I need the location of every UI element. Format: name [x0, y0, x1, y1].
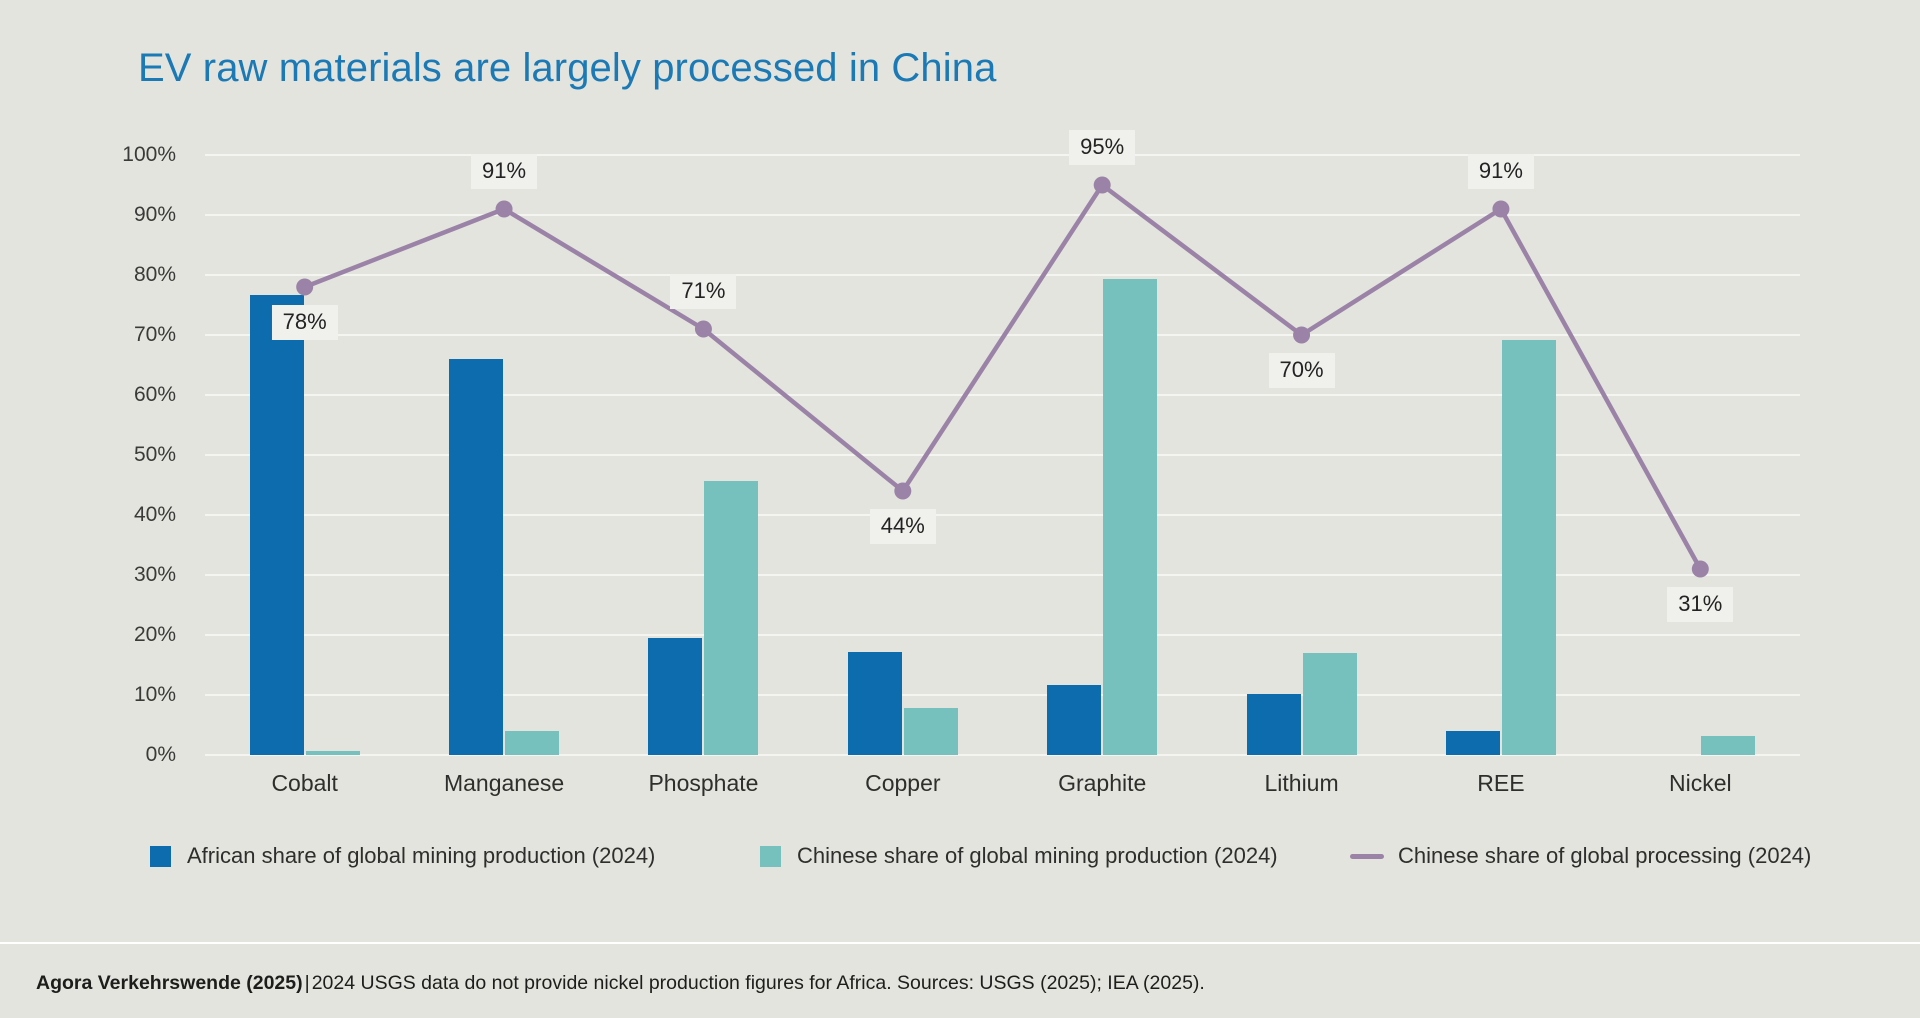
- footer-source: Agora Verkehrswende (2025): [36, 972, 303, 994]
- chart-figure: EV raw materials are largely processed i…: [0, 0, 1920, 1018]
- x-axis-tick-label: Phosphate: [648, 770, 758, 797]
- line-data-point: [695, 321, 712, 338]
- legend-line-icon: [1350, 854, 1384, 859]
- legend-swatch-icon: [760, 846, 781, 867]
- x-axis-tick-label: Copper: [865, 770, 940, 797]
- line-point-label: 91%: [1468, 154, 1534, 189]
- line-data-point: [1492, 201, 1509, 218]
- page-title: EV raw materials are largely processed i…: [138, 46, 996, 91]
- y-axis-tick-label: 30%: [134, 563, 176, 587]
- legend-item[interactable]: African share of global mining productio…: [150, 843, 655, 869]
- line-point-label: 91%: [471, 154, 537, 189]
- y-axis-tick-label: 70%: [134, 323, 176, 347]
- legend: African share of global mining productio…: [150, 843, 1850, 883]
- legend-item[interactable]: Chinese share of global processing (2024…: [1350, 843, 1811, 869]
- line-point-label: 44%: [870, 509, 936, 544]
- line-point-label: 70%: [1269, 353, 1335, 388]
- footer-note: Agora Verkehrswende (2025)|2024 USGS dat…: [36, 972, 1205, 995]
- x-axis-tick-label: REE: [1477, 770, 1524, 797]
- legend-swatch-icon: [150, 846, 171, 867]
- legend-label: Chinese share of global processing (2024…: [1398, 843, 1811, 869]
- x-axis-tick-label: Lithium: [1264, 770, 1338, 797]
- line-point-label: 71%: [670, 274, 736, 309]
- footer-separator: |: [303, 972, 312, 994]
- line-data-point: [296, 279, 313, 296]
- y-axis-tick-label: 0%: [146, 743, 176, 767]
- plot-area: 78%91%71%44%95%70%91%31%: [205, 155, 1800, 755]
- line-point-label: 31%: [1667, 587, 1733, 622]
- line-point-label: 78%: [272, 305, 338, 340]
- y-axis-tick-label: 40%: [134, 503, 176, 527]
- x-axis-tick-label: Manganese: [444, 770, 564, 797]
- legend-item[interactable]: Chinese share of global mining productio…: [760, 843, 1278, 869]
- y-axis-tick-label: 100%: [122, 143, 176, 167]
- y-axis-tick-label: 50%: [134, 443, 176, 467]
- x-axis: CobaltManganesePhosphateCopperGraphiteLi…: [205, 770, 1800, 810]
- line-data-point: [1293, 327, 1310, 344]
- x-axis-tick-label: Cobalt: [271, 770, 337, 797]
- x-axis-tick-label: Nickel: [1669, 770, 1732, 797]
- y-axis-tick-label: 60%: [134, 383, 176, 407]
- y-axis-tick-label: 10%: [134, 683, 176, 707]
- y-axis-tick-label: 90%: [134, 203, 176, 227]
- y-axis-tick-label: 80%: [134, 263, 176, 287]
- line-data-point: [894, 483, 911, 500]
- legend-label: Chinese share of global mining productio…: [797, 843, 1278, 869]
- legend-label: African share of global mining productio…: [187, 843, 655, 869]
- x-axis-tick-label: Graphite: [1058, 770, 1146, 797]
- y-axis: 0%10%20%30%40%50%60%70%80%90%100%: [0, 155, 190, 755]
- y-axis-tick-label: 20%: [134, 623, 176, 647]
- footer-text: 2024 USGS data do not provide nickel pro…: [312, 972, 1205, 994]
- line-data-point: [1692, 561, 1709, 578]
- line-data-point: [1094, 177, 1111, 194]
- processing-line-series: [205, 155, 1800, 755]
- line-data-point: [496, 201, 513, 218]
- line-point-label: 95%: [1069, 130, 1135, 165]
- processing-line: [305, 185, 1701, 569]
- footer-divider: [0, 942, 1920, 944]
